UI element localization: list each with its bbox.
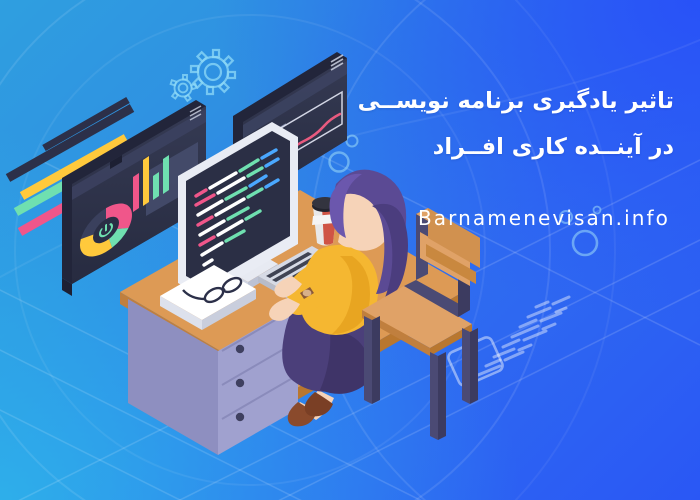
isometric-illustration: [0, 0, 700, 500]
headline-line-1: تاثیر یادگیری برنامه نویســی: [344, 78, 674, 124]
gear-outline-icons: [171, 50, 235, 101]
site-url: Barnamenevisan.info: [340, 206, 670, 230]
headline: تاثیر یادگیری برنامه نویســی در آینــده …: [344, 78, 674, 170]
banner-canvas: تاثیر یادگیری برنامه نویســی در آینــده …: [0, 0, 700, 500]
headline-line-2: در آینــده کاری افــراد: [344, 124, 674, 170]
